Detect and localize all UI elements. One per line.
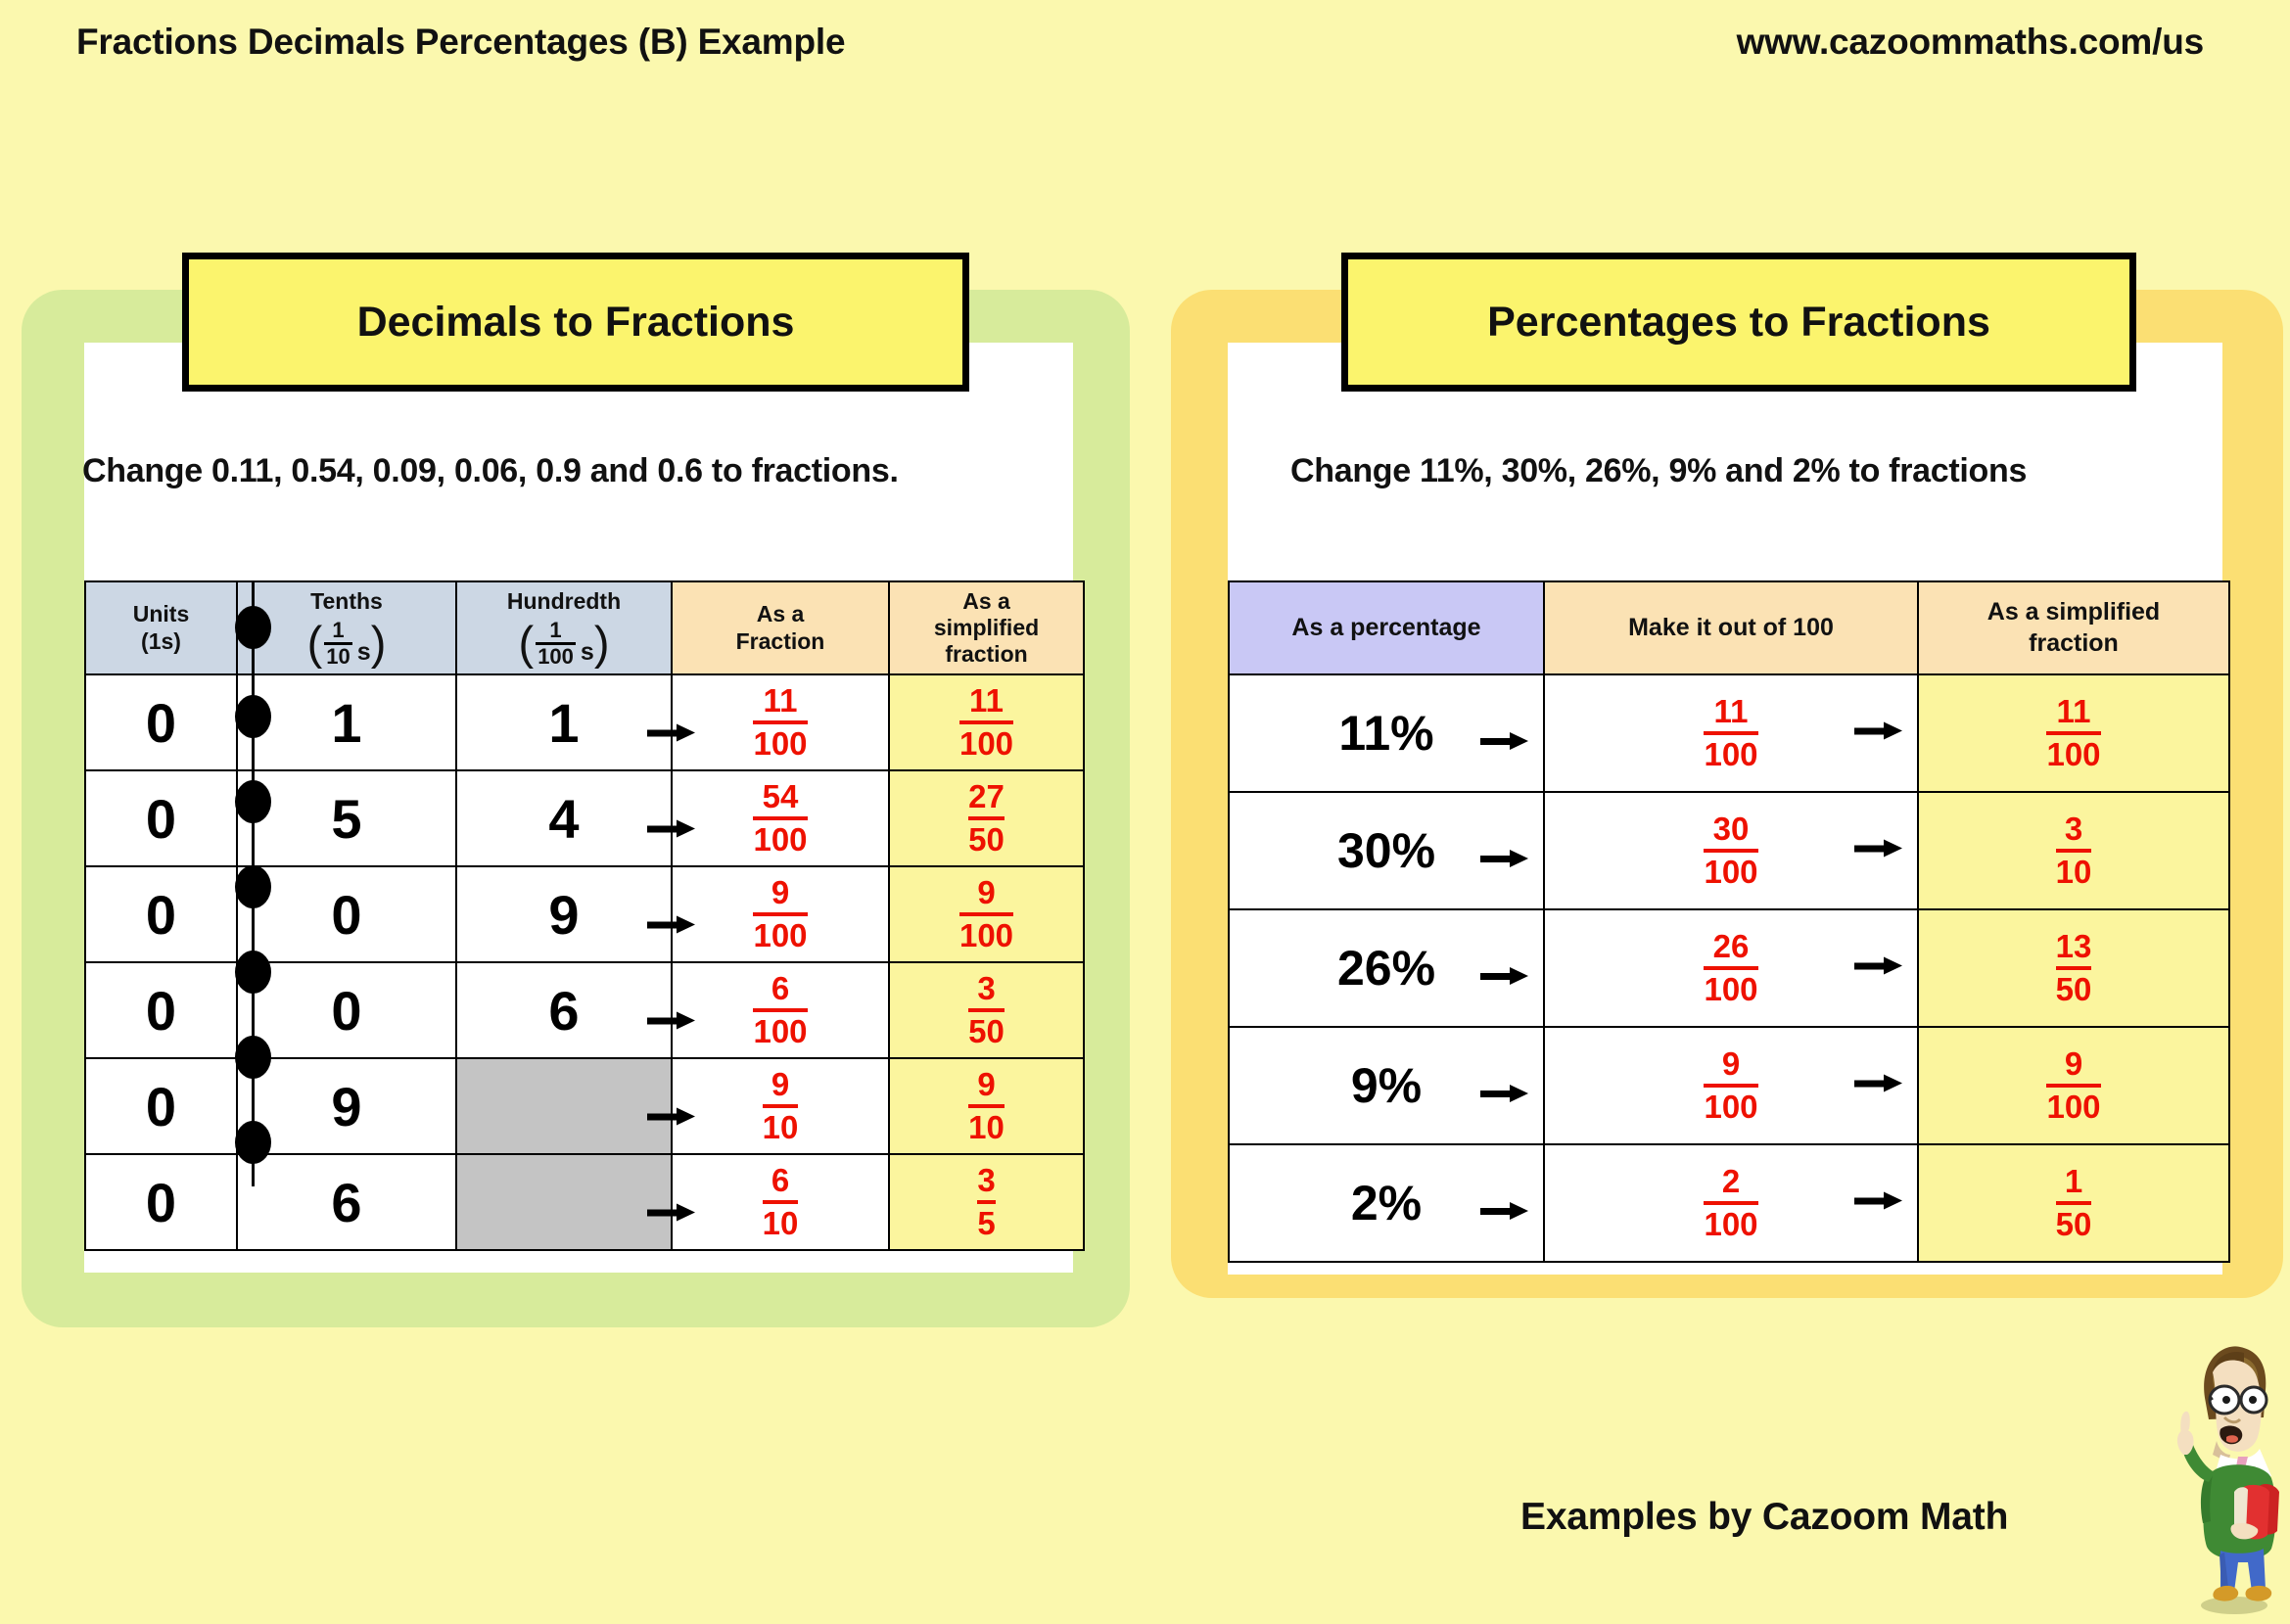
cell-simplified-fraction: 310 (1918, 792, 2229, 909)
simplified-fraction-value: 1350 (2056, 930, 2092, 1005)
right-paren: ) (371, 625, 387, 663)
header-as-a-percentage: As a percentage (1229, 581, 1544, 674)
cell-hundredth: 1 (456, 674, 672, 770)
out-of-100-value: 26100 (1704, 930, 1757, 1005)
cell-hundredth (456, 1154, 672, 1250)
fraction-value: 610 (763, 1164, 799, 1239)
fraction-bar (1704, 1084, 1757, 1088)
arrow-icon (1480, 967, 1531, 985)
arrow-icon (1854, 840, 1905, 858)
arrow-icon (1480, 732, 1531, 750)
tenths-mini-fraction: 1 10 (324, 620, 351, 668)
cell-units: 0 (85, 1154, 237, 1250)
header-simplified-line1: As a simplified (1919, 597, 2228, 627)
simplified-fraction-value: 9100 (2046, 1047, 2100, 1123)
fraction-bar (2056, 966, 2092, 970)
page-title: Fractions Decimals Percentages (B) Examp… (76, 22, 845, 63)
table-row: 9%91009100 (1229, 1027, 2229, 1144)
fraction-value: 9100 (753, 876, 807, 951)
arrow-icon (1854, 957, 1905, 975)
table-row: 26%261001350 (1229, 909, 2229, 1027)
fraction-bar (968, 1104, 1005, 1108)
fraction-bar (753, 1008, 807, 1012)
cell-simplified-fraction: 350 (889, 962, 1084, 1058)
simplified-fraction-value: 910 (968, 1068, 1005, 1143)
out-of-100-value: 2100 (1704, 1165, 1757, 1240)
decimal-point-icon (235, 606, 271, 649)
table-row: 30%30100310 (1229, 792, 2229, 909)
cell-simplified-fraction: 11100 (889, 674, 1084, 770)
header-make-out-of-100: Make it out of 100 (1544, 581, 1918, 674)
header-fraction-line2: Fraction (673, 628, 888, 655)
decimal-point-icon (235, 951, 271, 994)
arrow-icon (647, 1108, 698, 1126)
header-hundredth: Hundredth ( 1 100 s ) (456, 581, 672, 674)
arrow-icon-wrap (1480, 1175, 1531, 1231)
simplified-fraction-value: 11100 (2046, 695, 2100, 770)
arrow-icon-wrap (647, 691, 698, 755)
arrow-icon (1854, 722, 1905, 740)
table-body: 11%111001110030%3010031026%2610013509%91… (1229, 674, 2229, 1262)
right-panel-instruction: Change 11%, 30%, 26%, 9% and 2% to fract… (1290, 452, 2027, 490)
hundredth-mini-fraction: 1 100 (536, 620, 576, 668)
fraction-bar (753, 720, 807, 724)
cell-percentage: 11% (1229, 674, 1544, 792)
simplified-fraction-value: 310 (2056, 812, 2092, 888)
out-of-100-value: 30100 (1704, 812, 1757, 888)
arrow-icon (1480, 1202, 1531, 1220)
cell-units: 0 (85, 962, 237, 1058)
arrow-icon-wrap (647, 1171, 698, 1234)
decimal-point-icon (235, 695, 271, 738)
out-of-100-value: 9100 (1704, 1047, 1757, 1123)
arrow-icon-wrap (1854, 1192, 1905, 1215)
fraction-bar (2046, 731, 2100, 735)
left-panel-title: Decimals to Fractions (182, 253, 969, 392)
simplified-fraction-value: 9100 (959, 876, 1013, 951)
table-row: 0661035 (85, 1154, 1084, 1250)
left-paren: ( (519, 625, 535, 663)
cell-simplified-fraction: 9100 (889, 866, 1084, 962)
cell-percentage: 2% (1229, 1144, 1544, 1262)
fraction-bar (968, 1008, 1005, 1012)
arrow-icon-wrap (647, 787, 698, 851)
fraction-value: 910 (763, 1068, 799, 1143)
fraction-bar (977, 1200, 995, 1204)
cell-out-of-100: 9100 (1544, 1027, 1918, 1144)
header-tenths-line1: Tenths (238, 588, 455, 615)
arrow-icon-wrap (647, 1075, 698, 1138)
arrow-icon (1480, 1085, 1531, 1102)
table-row: 054541002750 (85, 770, 1084, 866)
left-panel-instruction: Change 0.11, 0.54, 0.09, 0.06, 0.9 and 0… (82, 452, 899, 490)
arrow-icon-wrap (1480, 940, 1531, 997)
fraction-bar (753, 912, 807, 916)
page-header: Fractions Decimals Percentages (B) Examp… (0, 0, 2290, 78)
percentages-to-fractions-table: As a percentage Make it out of 100 As a … (1228, 580, 2230, 1263)
cell-as-a-fraction: 610 (672, 1154, 889, 1250)
right-paren: ) (594, 625, 610, 663)
arrow-icon-wrap (647, 883, 698, 947)
cell-as-a-fraction: 11100 (672, 674, 889, 770)
out-of-100-value: 11100 (1704, 695, 1757, 770)
arrow-icon (647, 916, 698, 934)
cell-percentage: 26% (1229, 909, 1544, 1027)
header-fraction-line1: As a (673, 601, 888, 627)
cell-hundredth (456, 1058, 672, 1154)
cell-percentage: 9% (1229, 1027, 1544, 1144)
cell-hundredth: 6 (456, 962, 672, 1058)
decimal-point-icon (235, 780, 271, 823)
fraction-bar (2056, 1201, 2092, 1205)
cell-hundredth: 9 (456, 866, 672, 962)
teacher-mascot-icon (2170, 1339, 2283, 1619)
arrow-icon-wrap (1854, 722, 1905, 745)
arrow-icon-wrap (1854, 957, 1905, 980)
fraction-bar (1704, 849, 1757, 853)
fraction-bar (1704, 731, 1757, 735)
header-simplified-line2: simplified (890, 615, 1083, 641)
cell-simplified-fraction: 910 (889, 1058, 1084, 1154)
header-as-a-fraction: As a Fraction (672, 581, 889, 674)
arrow-icon-wrap (1480, 822, 1531, 879)
cell-as-a-fraction: 6100 (672, 962, 889, 1058)
cell-as-a-fraction: 54100 (672, 770, 889, 866)
table-body: 0111110011100054541002750009910091000066… (85, 674, 1084, 1250)
header-simplified-fraction: As a simplified fraction (889, 581, 1084, 674)
decimal-point-icon (235, 1036, 271, 1079)
cell-simplified-fraction: 2750 (889, 770, 1084, 866)
header-simplified-line1: As a (890, 588, 1083, 615)
simplified-fraction-value: 150 (2056, 1165, 2092, 1240)
arrow-icon-wrap (647, 979, 698, 1043)
table-row: 2%2100150 (1229, 1144, 2229, 1262)
right-panel-title: Percentages to Fractions (1341, 253, 2136, 392)
cell-as-a-fraction: 9100 (672, 866, 889, 962)
cell-units: 0 (85, 1058, 237, 1154)
simplified-fraction-value: 350 (968, 972, 1005, 1047)
simplified-fraction-value: 11100 (959, 684, 1013, 760)
arrow-icon (647, 724, 698, 742)
header-units-line2: (1s) (86, 628, 236, 655)
cell-units: 0 (85, 674, 237, 770)
fraction-bar (1704, 1201, 1757, 1205)
arrow-icon-wrap (1854, 1075, 1905, 1097)
fraction-bar (968, 816, 1005, 820)
footer-credit: Examples by Cazoom Math (1520, 1496, 2008, 1539)
fraction-bar (763, 1104, 799, 1108)
fraction-bar (763, 1200, 799, 1204)
arrow-icon (647, 1204, 698, 1222)
cell-out-of-100: 11100 (1544, 674, 1918, 792)
cell-out-of-100: 30100 (1544, 792, 1918, 909)
arrow-icon-wrap (1480, 1057, 1531, 1114)
decimal-point-icon (235, 1121, 271, 1164)
table-row: 11%1110011100 (1229, 674, 2229, 792)
fraction-value: 6100 (753, 972, 807, 1047)
fraction-bar (959, 720, 1013, 724)
cell-simplified-fraction: 9100 (1918, 1027, 2229, 1144)
cell-percentage: 30% (1229, 792, 1544, 909)
header-units: Units (1s) (85, 581, 237, 674)
cell-tenths: 5 (237, 770, 456, 866)
header-simplified-fraction: As a simplified fraction (1918, 581, 2229, 674)
fraction-value: 11100 (753, 684, 807, 760)
header-units-line1: Units (86, 601, 236, 627)
fraction-bar (2046, 1084, 2100, 1088)
cell-as-a-fraction: 910 (672, 1058, 889, 1154)
arrow-icon (1480, 850, 1531, 867)
header-hundredth-line1: Hundredth (457, 588, 671, 615)
header-hundredth-fraction: ( 1 100 s ) (519, 620, 610, 668)
fraction-value: 54100 (753, 780, 807, 856)
fraction-bar (1704, 966, 1757, 970)
header-simplified-line2: fraction (1919, 628, 2228, 659)
header-simplified-line3: fraction (890, 641, 1083, 668)
cell-out-of-100: 26100 (1544, 909, 1918, 1027)
cell-out-of-100: 2100 (1544, 1144, 1918, 1262)
simplified-fraction-value: 35 (977, 1164, 995, 1239)
arrow-icon (647, 820, 698, 838)
left-paren: ( (307, 625, 323, 663)
cell-hundredth: 4 (456, 770, 672, 866)
fraction-bar (753, 816, 807, 820)
cell-units: 0 (85, 770, 237, 866)
decimal-point-icon (235, 865, 271, 908)
arrow-icon (1854, 1192, 1905, 1210)
decimals-to-fractions-table: Units (1s) Tenths ( 1 10 s ) Hundredth ( (84, 580, 1085, 1251)
arrow-icon-wrap (1854, 840, 1905, 862)
site-url: www.cazoommaths.com/us (1737, 22, 2204, 63)
cell-simplified-fraction: 150 (1918, 1144, 2229, 1262)
fraction-bar (959, 912, 1013, 916)
cell-units: 0 (85, 866, 237, 962)
cell-simplified-fraction: 35 (889, 1154, 1084, 1250)
arrow-icon (647, 1012, 698, 1030)
header-tenths-fraction: ( 1 10 s ) (307, 620, 387, 668)
fraction-bar (2056, 849, 2092, 853)
cell-tenths: 6 (237, 1154, 456, 1250)
simplified-fraction-value: 2750 (968, 780, 1005, 856)
cell-simplified-fraction: 1350 (1918, 909, 2229, 1027)
table-header-row: As a percentage Make it out of 100 As a … (1229, 581, 2229, 674)
arrow-icon-wrap (1480, 705, 1531, 762)
arrow-icon (1854, 1075, 1905, 1092)
cell-simplified-fraction: 11100 (1918, 674, 2229, 792)
